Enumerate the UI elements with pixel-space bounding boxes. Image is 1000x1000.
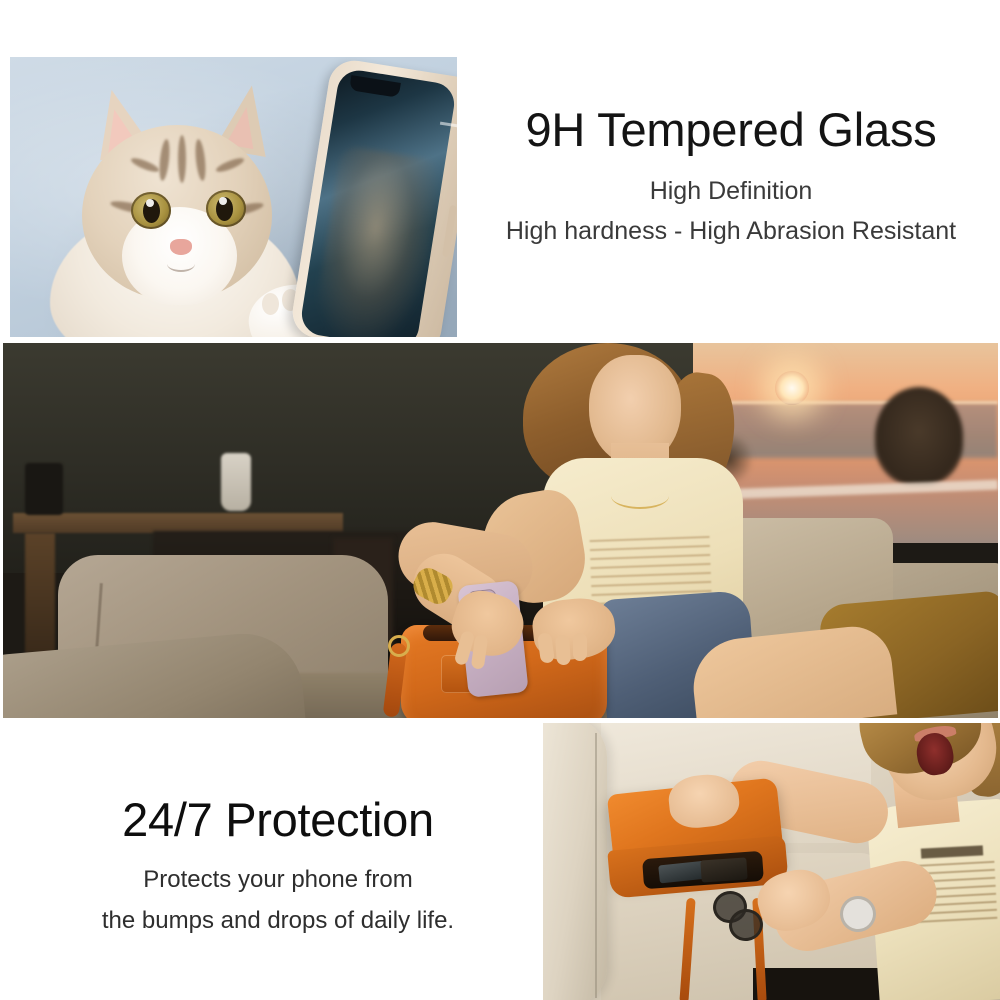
living-room-sunset-photo (3, 343, 998, 718)
protection-title: 24/7 Protection (28, 795, 528, 845)
console-shelf-leg (25, 533, 55, 653)
cat-phone-photo (10, 57, 457, 337)
headline-subtitle-1: High Definition (462, 177, 1000, 206)
protection-subtitle-2: the bumps and drops of daily life. (28, 907, 528, 935)
kitten-toe (262, 293, 279, 315)
sofa-armrest-seam (595, 733, 597, 998)
kitten-nose (170, 239, 192, 255)
protection-subtitle-1: Protects your phone from (28, 866, 528, 894)
handbag-contents-photo (543, 723, 1000, 1000)
sofa-armrest (543, 723, 607, 1000)
console-shelf (13, 513, 343, 533)
headline-title: 9H Tempered Glass (462, 105, 1000, 156)
kitten-mouth (167, 256, 195, 272)
headline-subtitle-2: High hardness - High Abrasion Resistant (462, 217, 1000, 246)
finger (573, 633, 587, 661)
kitten-forehead-stripe (178, 135, 186, 183)
finger (555, 635, 571, 666)
protection-text-block: 24/7 Protection Protects your phone from… (28, 795, 528, 935)
handbag-strap-ring (388, 635, 410, 657)
dark-jar-decor (25, 463, 63, 515)
setting-sun (775, 371, 809, 405)
wallet-inside-bag (700, 857, 747, 882)
foreground-tree (875, 387, 963, 485)
gold-necklace (611, 483, 669, 509)
white-vase-decor (221, 453, 251, 511)
kitten-left-eye-glint (146, 199, 154, 207)
tempered-glass-text-block: 9H Tempered Glass High Definition High h… (462, 105, 1000, 246)
kitten-right-eye-glint (219, 197, 227, 205)
